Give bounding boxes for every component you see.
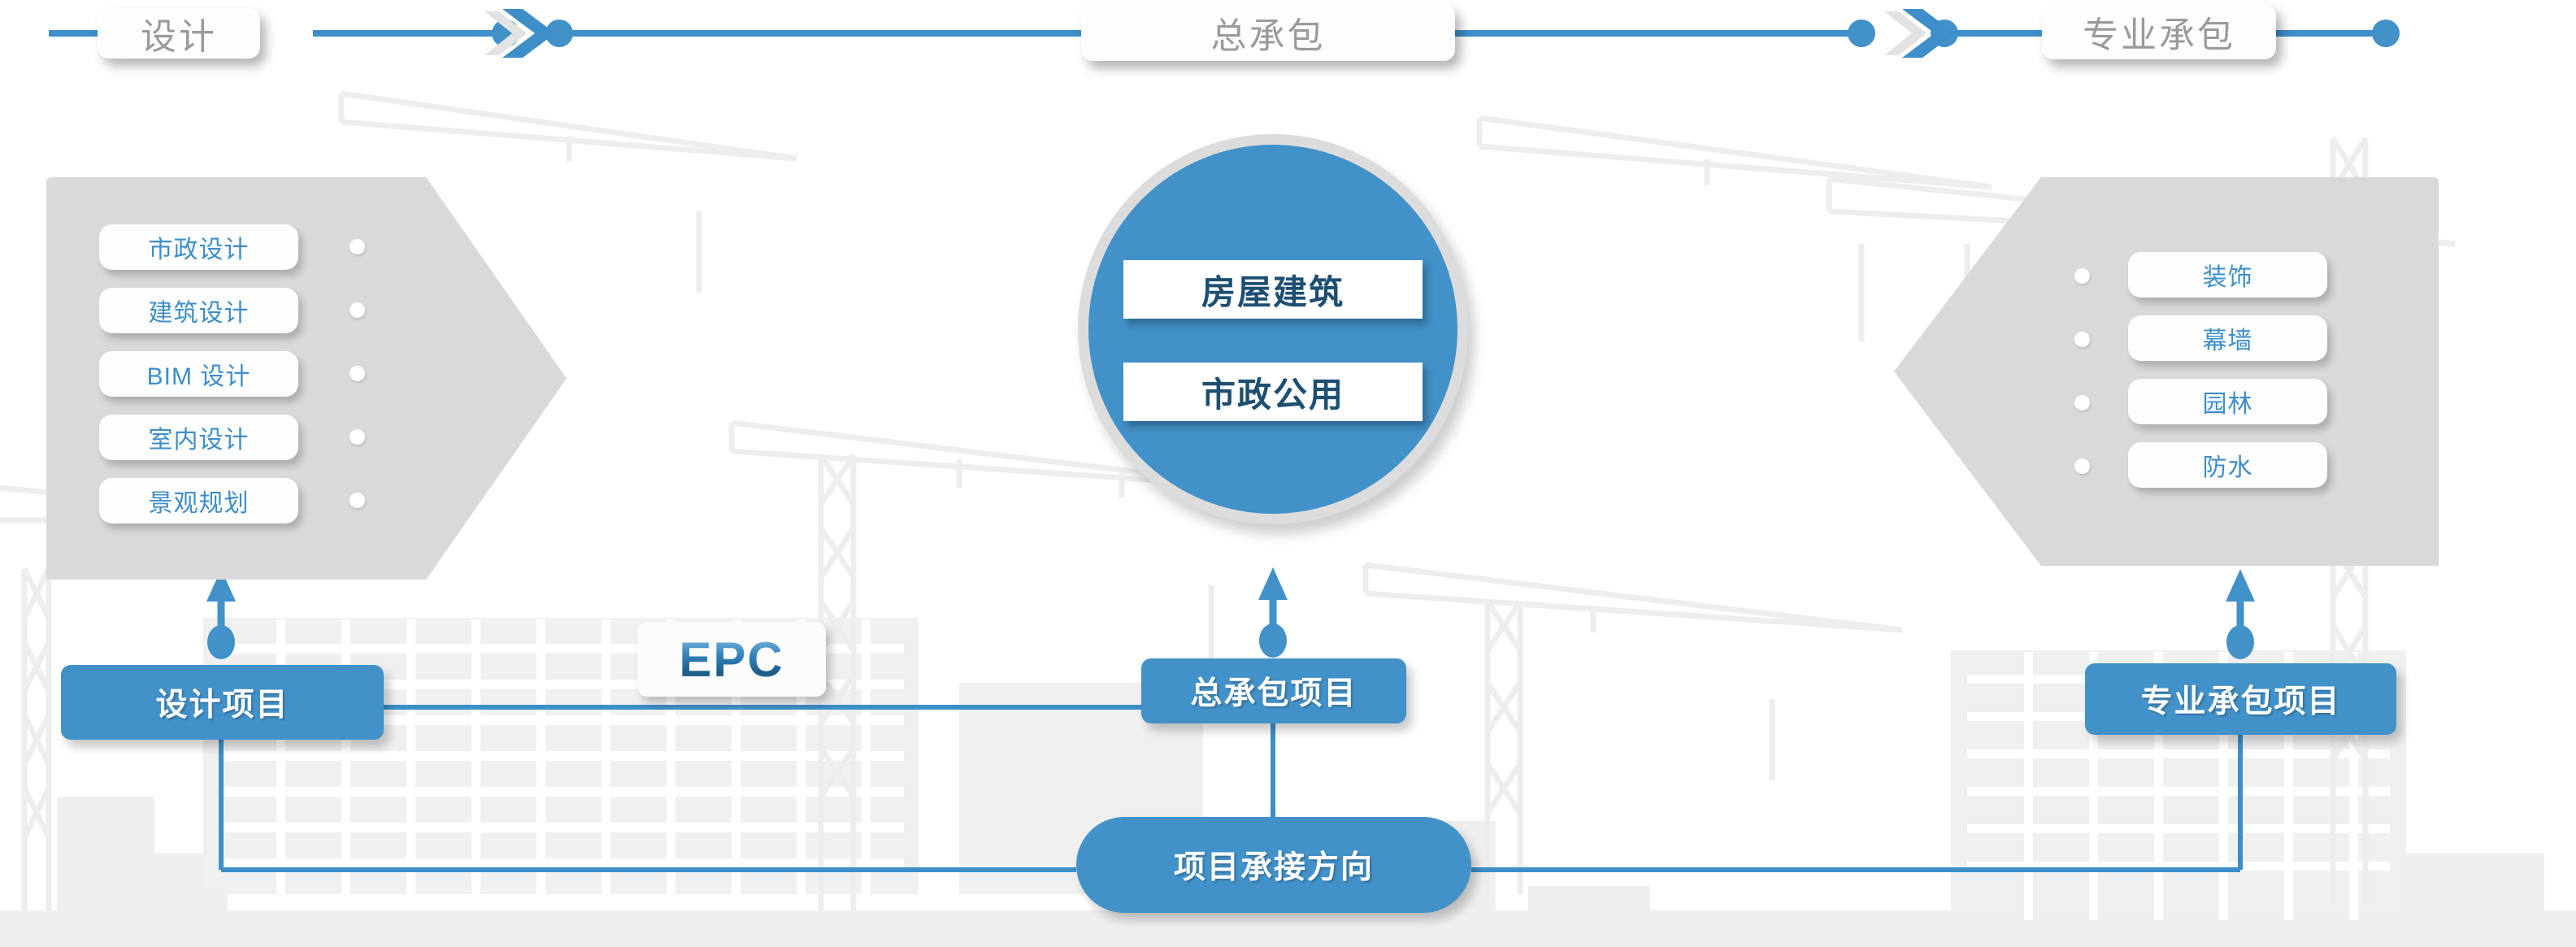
- left-item-bullet: [350, 366, 365, 381]
- epc-label: EPC: [679, 632, 784, 688]
- left-item-label: 建筑设计: [149, 293, 250, 328]
- left-item-architectural-design[interactable]: 建筑设计: [99, 288, 298, 333]
- right-item-label: 装饰: [2203, 257, 2253, 293]
- up-arrow-right: [2226, 569, 2255, 659]
- left-item-label: BIM 设计: [147, 356, 251, 392]
- chevron-double-icon-left: [484, 9, 555, 58]
- node-label: 设计项目: [155, 680, 289, 725]
- center-scope-circle: [1078, 134, 1468, 524]
- node-label: 项目承接方向: [1174, 842, 1374, 888]
- bottom-connector-left: [221, 740, 1076, 870]
- center-box-building-construction[interactable]: 房屋建筑: [1123, 260, 1423, 319]
- left-item-label: 景观规划: [149, 483, 250, 519]
- right-item-decoration[interactable]: 装饰: [2128, 252, 2327, 298]
- header-stage-specialty-contracting[interactable]: 专业承包: [2042, 4, 2276, 59]
- right-item-label: 防水: [2203, 447, 2253, 483]
- node-label: 总承包项目: [1190, 668, 1357, 714]
- right-item-curtain-wall[interactable]: 幕墙: [2128, 315, 2327, 361]
- left-item-bullet: [350, 429, 365, 445]
- up-arrow-left: [206, 569, 236, 659]
- right-item-label: 幕墙: [2203, 320, 2253, 356]
- left-item-municipal-design[interactable]: 市政设计: [99, 224, 298, 270]
- left-item-label: 室内设计: [149, 419, 250, 455]
- left-item-landscape-planning[interactable]: 景观规划: [99, 478, 298, 523]
- left-item-label: 市政设计: [149, 229, 250, 265]
- chevron-double-icon-right: [1884, 9, 1955, 58]
- node-design-project[interactable]: 设计项目: [61, 665, 384, 740]
- right-item-label: 园林: [2203, 384, 2253, 419]
- left-item-bim-design[interactable]: BIM 设计: [99, 351, 298, 397]
- diagram-canvas: 设计 总承包 专业承包 市政设计 建筑设计 BIM 设计 室内设计 景观规划 房…: [0, 0, 2576, 947]
- center-box-municipal-utility[interactable]: 市政公用: [1123, 363, 1423, 421]
- left-item-bullet: [350, 302, 365, 318]
- header-stage-design[interactable]: 设计: [98, 8, 260, 59]
- header-stage-label: 专业承包: [2083, 6, 2235, 58]
- node-label: 专业承包项目: [2140, 676, 2340, 722]
- bottom-connector-right: [1471, 735, 2240, 870]
- epc-badge[interactable]: EPC: [637, 622, 826, 697]
- right-category-panel: [1894, 177, 2439, 566]
- right-item-waterproofing[interactable]: 防水: [2128, 442, 2327, 488]
- center-box-label: 房屋建筑: [1201, 265, 1344, 315]
- right-item-landscaping[interactable]: 园林: [2128, 379, 2327, 424]
- node-specialty-contracting-project[interactable]: 专业承包项目: [2085, 663, 2396, 735]
- right-item-bullet: [2074, 458, 2090, 474]
- center-box-label: 市政公用: [1201, 367, 1344, 417]
- right-item-bullet: [2074, 332, 2090, 347]
- up-arrow-center: [1258, 567, 1288, 658]
- node-project-undertaking-direction[interactable]: 项目承接方向: [1076, 817, 1471, 913]
- left-item-bullet: [350, 493, 365, 508]
- right-item-bullet: [2074, 395, 2090, 411]
- right-item-bullet: [2074, 268, 2090, 284]
- header-stage-general-contracting[interactable]: 总承包: [1081, 4, 1455, 61]
- node-general-contracting-project[interactable]: 总承包项目: [1141, 658, 1406, 723]
- left-item-interior-design[interactable]: 室内设计: [99, 415, 298, 460]
- header-stage-label: 总承包: [1211, 7, 1326, 59]
- left-item-bullet: [350, 239, 365, 254]
- header-stage-label: 设计: [141, 7, 217, 59]
